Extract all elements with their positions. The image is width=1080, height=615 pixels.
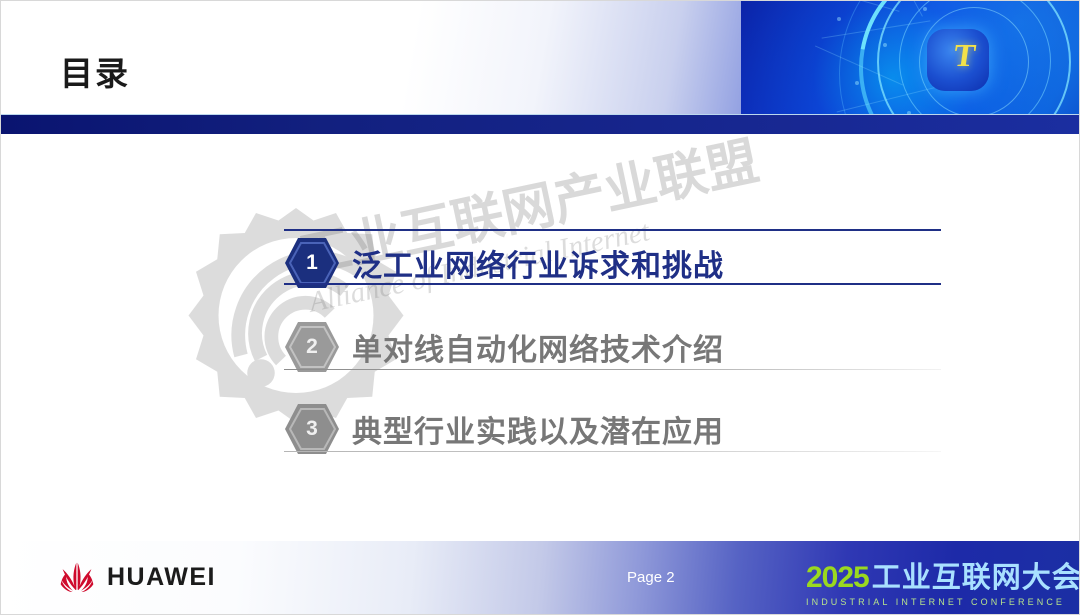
toc-number-1: 1 — [284, 237, 340, 289]
slide-canvas: T 目录 工业互联网产业联盟 Alliance of Industrial In… — [0, 0, 1080, 615]
conference-logo: 2025 工业互联网大会 INDUSTRIAL INTERNET CONFERE… — [806, 554, 1054, 607]
page-number: Page 2 — [627, 569, 675, 586]
page-title: 目录 — [60, 47, 130, 95]
slide-header: T — [1, 1, 1080, 114]
huawei-flower-icon — [56, 560, 98, 594]
toc-rule-2 — [284, 369, 941, 370]
toc-rule-3 — [284, 451, 941, 452]
toc-item-1[interactable]: 1 泛工业网络行业诉求和挑战 — [284, 229, 941, 299]
toc-number-3: 3 — [284, 403, 340, 455]
toc-rule-top — [284, 229, 941, 231]
network-globe-graphic: T — [701, 1, 1080, 114]
toc-item-2[interactable]: 2 单对线自动化网络技术介绍 — [284, 313, 941, 383]
huawei-wordmark: HUAWEI — [107, 563, 216, 592]
conference-name-cn: 工业互联网大会 — [872, 554, 1080, 596]
toc-label-3[interactable]: 典型行业实践以及潜在应用 — [352, 407, 724, 451]
conference-name-en: INDUSTRIAL INTERNET CONFERENCE — [806, 597, 1054, 607]
toc-number-2: 2 — [284, 321, 340, 373]
toc-label-1[interactable]: 泛工业网络行业诉求和挑战 — [352, 241, 724, 285]
toc-label-2[interactable]: 单对线自动化网络技术介绍 — [352, 325, 724, 369]
conference-year: 2025 — [806, 561, 869, 595]
header-accent-bar — [1, 114, 1080, 134]
toc-item-3[interactable]: 3 典型行业实践以及潜在应用 — [284, 395, 941, 465]
toc-rule-bottom — [284, 283, 941, 285]
huawei-logo: HUAWEI — [56, 560, 216, 594]
table-of-contents: 1 泛工业网络行业诉求和挑战 2 单对线自动化网络技术介绍 — [284, 229, 941, 465]
